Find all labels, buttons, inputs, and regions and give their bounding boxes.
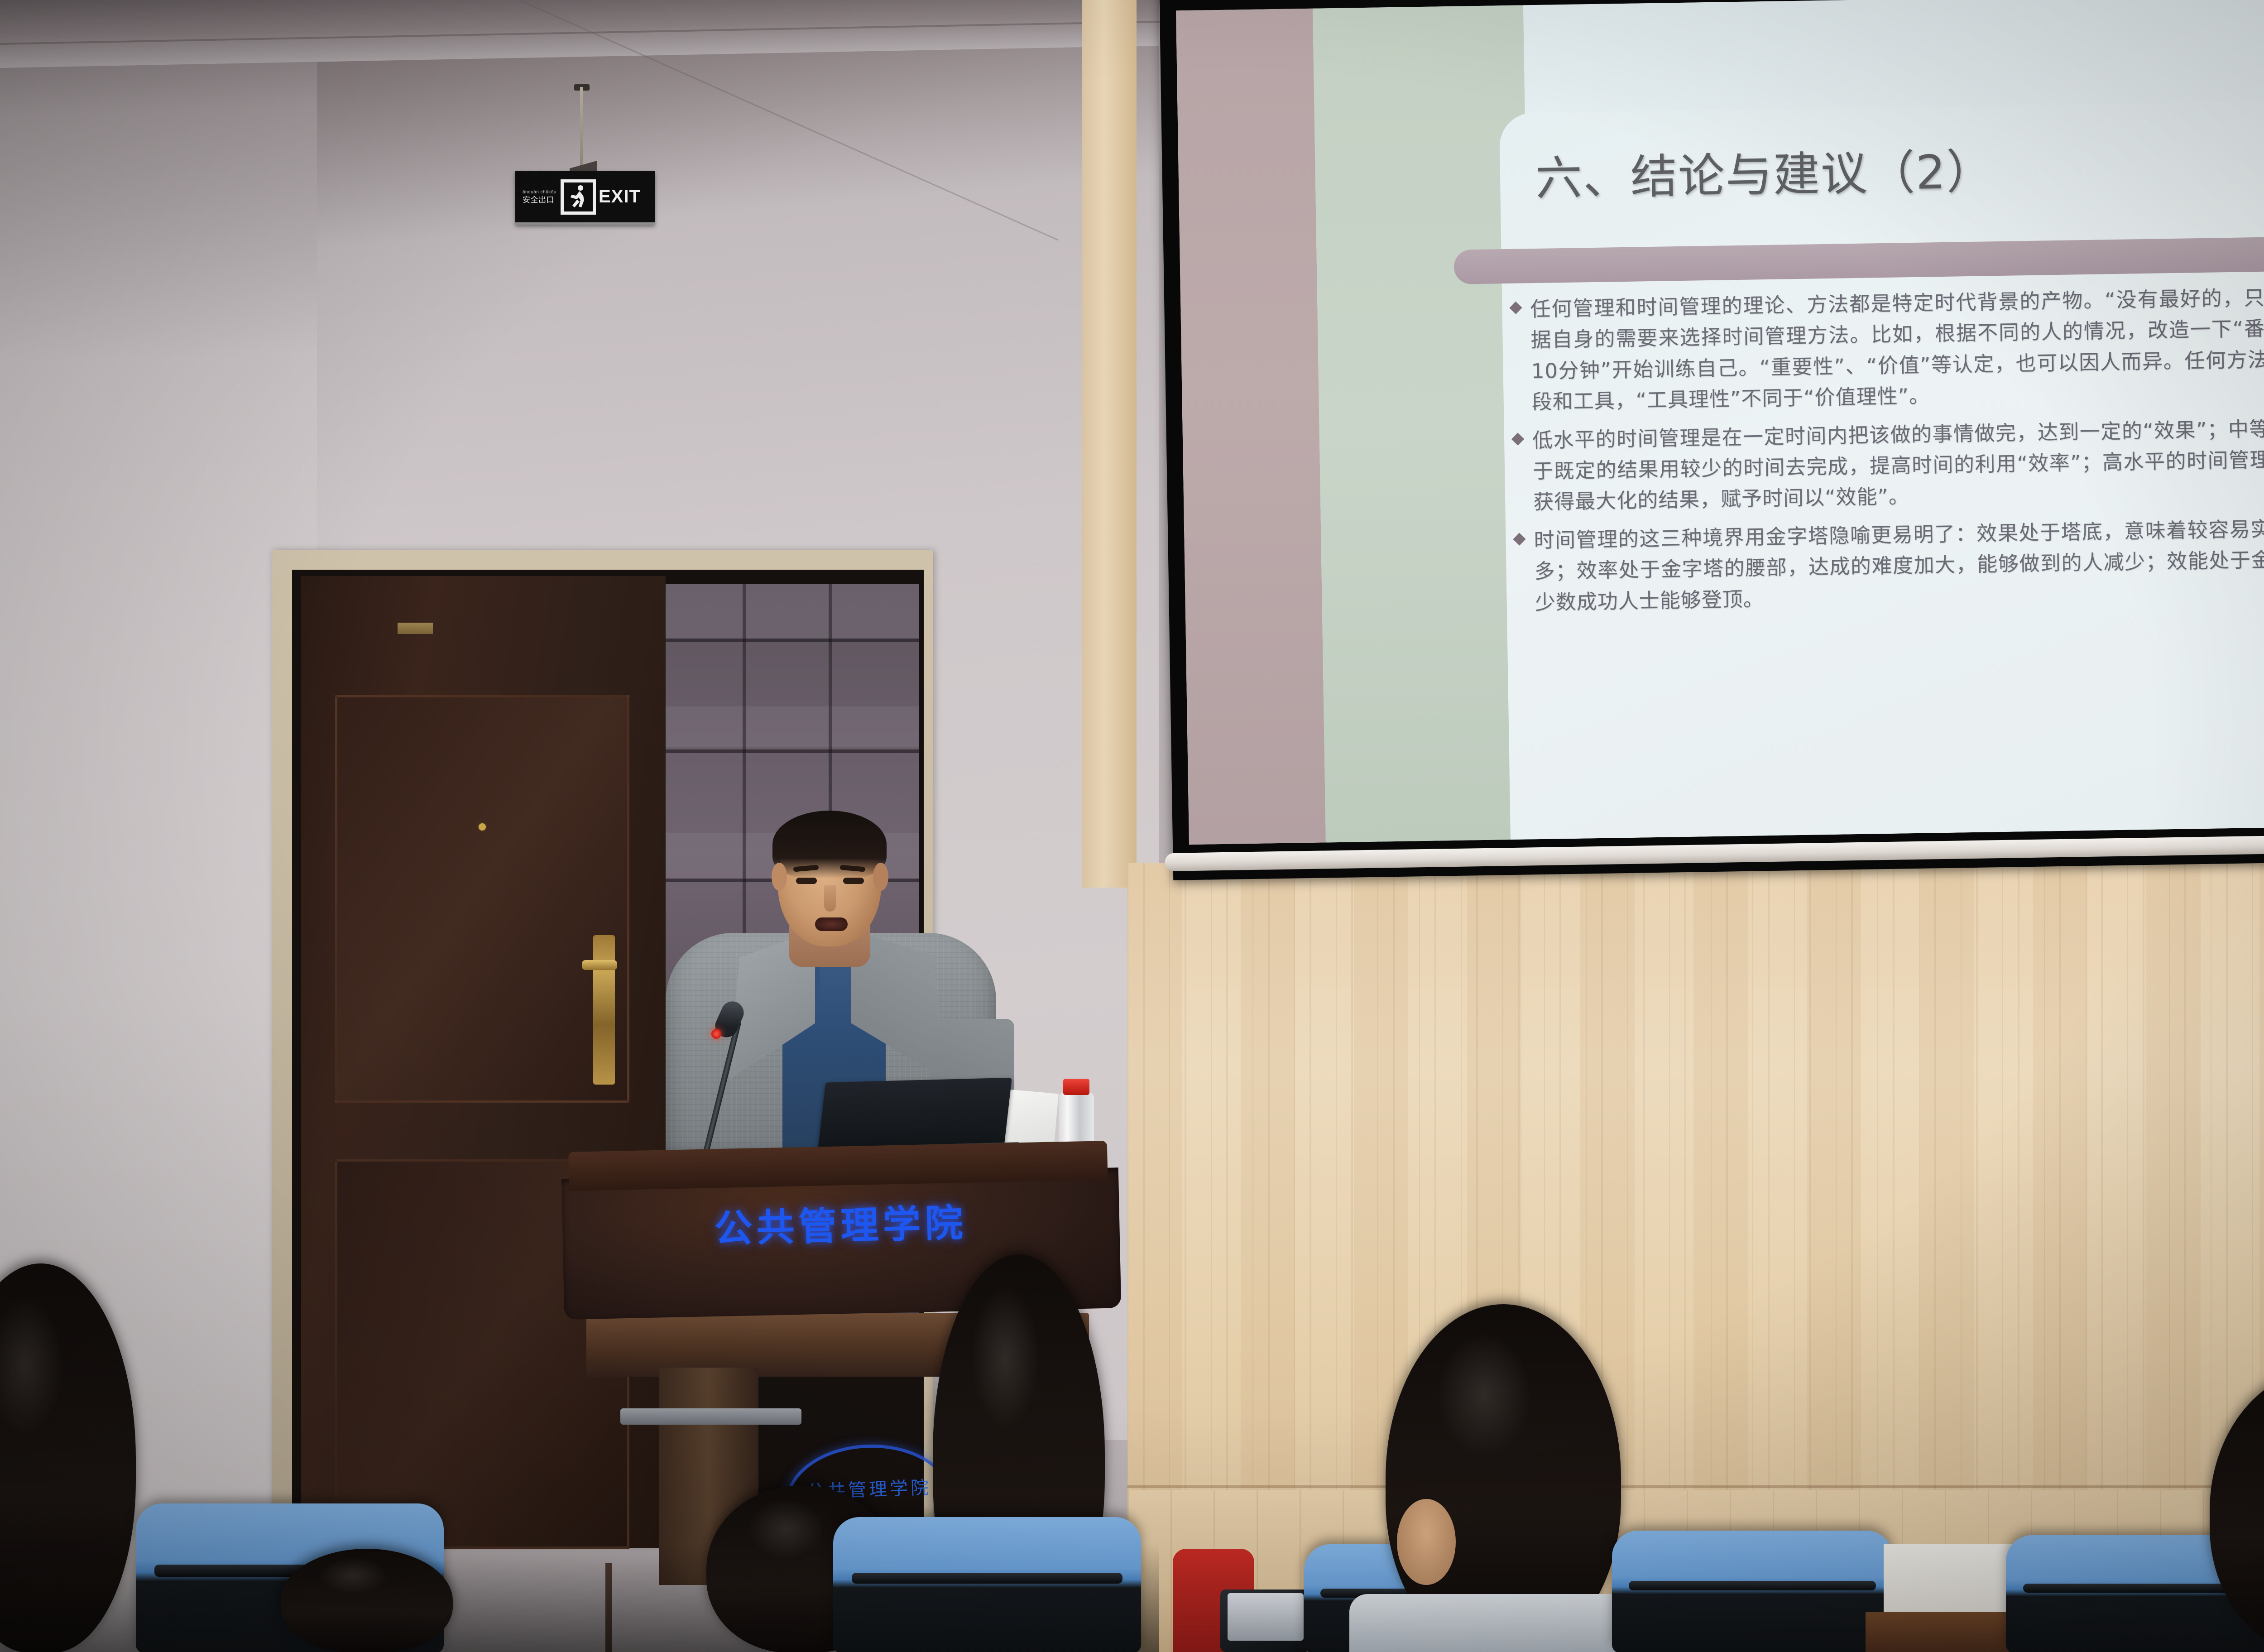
slide-surface: 六、结论与建议（2） 任何管理和时间管理的理论、方法都是特定时代背景的产物。“没… [1176, 0, 2264, 845]
exit-sign-cable [580, 87, 583, 175]
chair-back [833, 1517, 1141, 1652]
projection-screen: 六、结论与建议（2） 任何管理和时间管理的理论、方法都是特定时代背景的产物。“没… [1159, 0, 2264, 880]
window-band [666, 584, 919, 639]
microphone-led-indicator [711, 1029, 721, 1039]
slide-bullet-item: 任何管理和时间管理的理论、方法都是特定时代背景的产物。“没有最好的，只有最合适的… [1511, 279, 2264, 418]
slide-left-mauve-band [1176, 9, 1326, 845]
wood-paneling-wall [1127, 863, 2264, 1542]
speaker-eye-right [843, 878, 864, 884]
slide-bullet-item: 低水平的时间管理是在一定时间内把该做的事情做完，达到一定的“效果”；中等水平的时… [1513, 411, 2264, 519]
speaker-eye-left [796, 878, 817, 884]
slide-bullet-text: 低水平的时间管理是在一定时间内把该做的事情做完，达到一定的“效果”；中等水平的时… [1532, 411, 2264, 518]
speaker-mouth [815, 917, 848, 931]
audience-head [281, 1549, 453, 1652]
slide-rounded-card: 六、结论与建议（2） 任何管理和时间管理的理论、方法都是特定时代背景的产物。“没… [1499, 98, 2264, 840]
speaker-nose [824, 885, 836, 912]
window-band [666, 706, 919, 747]
diamond-bullet-icon [1515, 525, 1535, 619]
lecture-hall-photo: ānquán chūkǒu 安全出口 EXIT 六、结论与建议（2） [0, 0, 2264, 1652]
wood-paneling-seam [1127, 1485, 2264, 1488]
door-panel-upper [335, 695, 629, 1103]
exit-sign-english: EXIT [599, 187, 641, 207]
slide-title: 六、结论与建议（2） [1535, 147, 1994, 204]
emergency-exit-sign: ānquán chūkǒu 安全出口 EXIT [515, 171, 655, 225]
running-man-exit-icon [561, 179, 596, 215]
exit-sign-pinyin: ānquán chūkǒu [523, 190, 558, 195]
chair-back [1612, 1531, 1893, 1652]
door-handle[interactable] [593, 935, 615, 1085]
podium-foot [620, 1408, 801, 1425]
speaker-ear-right [873, 863, 888, 891]
exit-sign-chinese: 安全出口 [523, 196, 558, 204]
audience-white-shirt [1349, 1594, 1648, 1652]
door-plate [398, 623, 433, 634]
chair-seat-bar [1629, 1581, 1876, 1591]
window-mullion-h [666, 749, 919, 753]
water-bottle-cap [1063, 1079, 1089, 1095]
diamond-bullet-icon [1511, 294, 1532, 418]
exit-sign-chinese-block: ānquán chūkǒu 安全出口 [523, 190, 558, 204]
smartphone-screen [1228, 1593, 1304, 1641]
smartphone[interactable] [1220, 1590, 1311, 1652]
running-man-glyph [568, 185, 588, 210]
slide-bullet-list: 任何管理和时间管理的理论、方法都是特定时代背景的产物。“没有最好的，只有最合适的… [1511, 279, 2264, 626]
slide-bullet-text: 时间管理的这三种境界用金字塔隐喻更易明了：效果处于塔底，意味着较容易实现或能够做… [1534, 511, 2264, 618]
door-lever-handle[interactable] [582, 960, 617, 970]
door-knob-icon [479, 823, 486, 831]
chair-seat-bar [852, 1573, 1122, 1584]
speaker-hair [772, 811, 887, 879]
slide-bullet-text: 任何管理和时间管理的理论、方法都是特定时代背景的产物。“没有最好的，只有最合适的… [1530, 279, 2264, 418]
audience-ear-skin [1397, 1499, 1456, 1585]
diamond-bullet-icon [1513, 425, 1534, 519]
window-mullion-h [666, 639, 919, 642]
slide-title-underline-bar [1453, 235, 2264, 284]
slide-bullet-item: 时间管理的这三种境界用金字塔隐喻更易明了：效果处于塔底，意味着较容易实现或能够做… [1515, 511, 2264, 619]
wood-trim-strip [1082, 0, 1137, 888]
speaker-ear-left [772, 863, 787, 891]
